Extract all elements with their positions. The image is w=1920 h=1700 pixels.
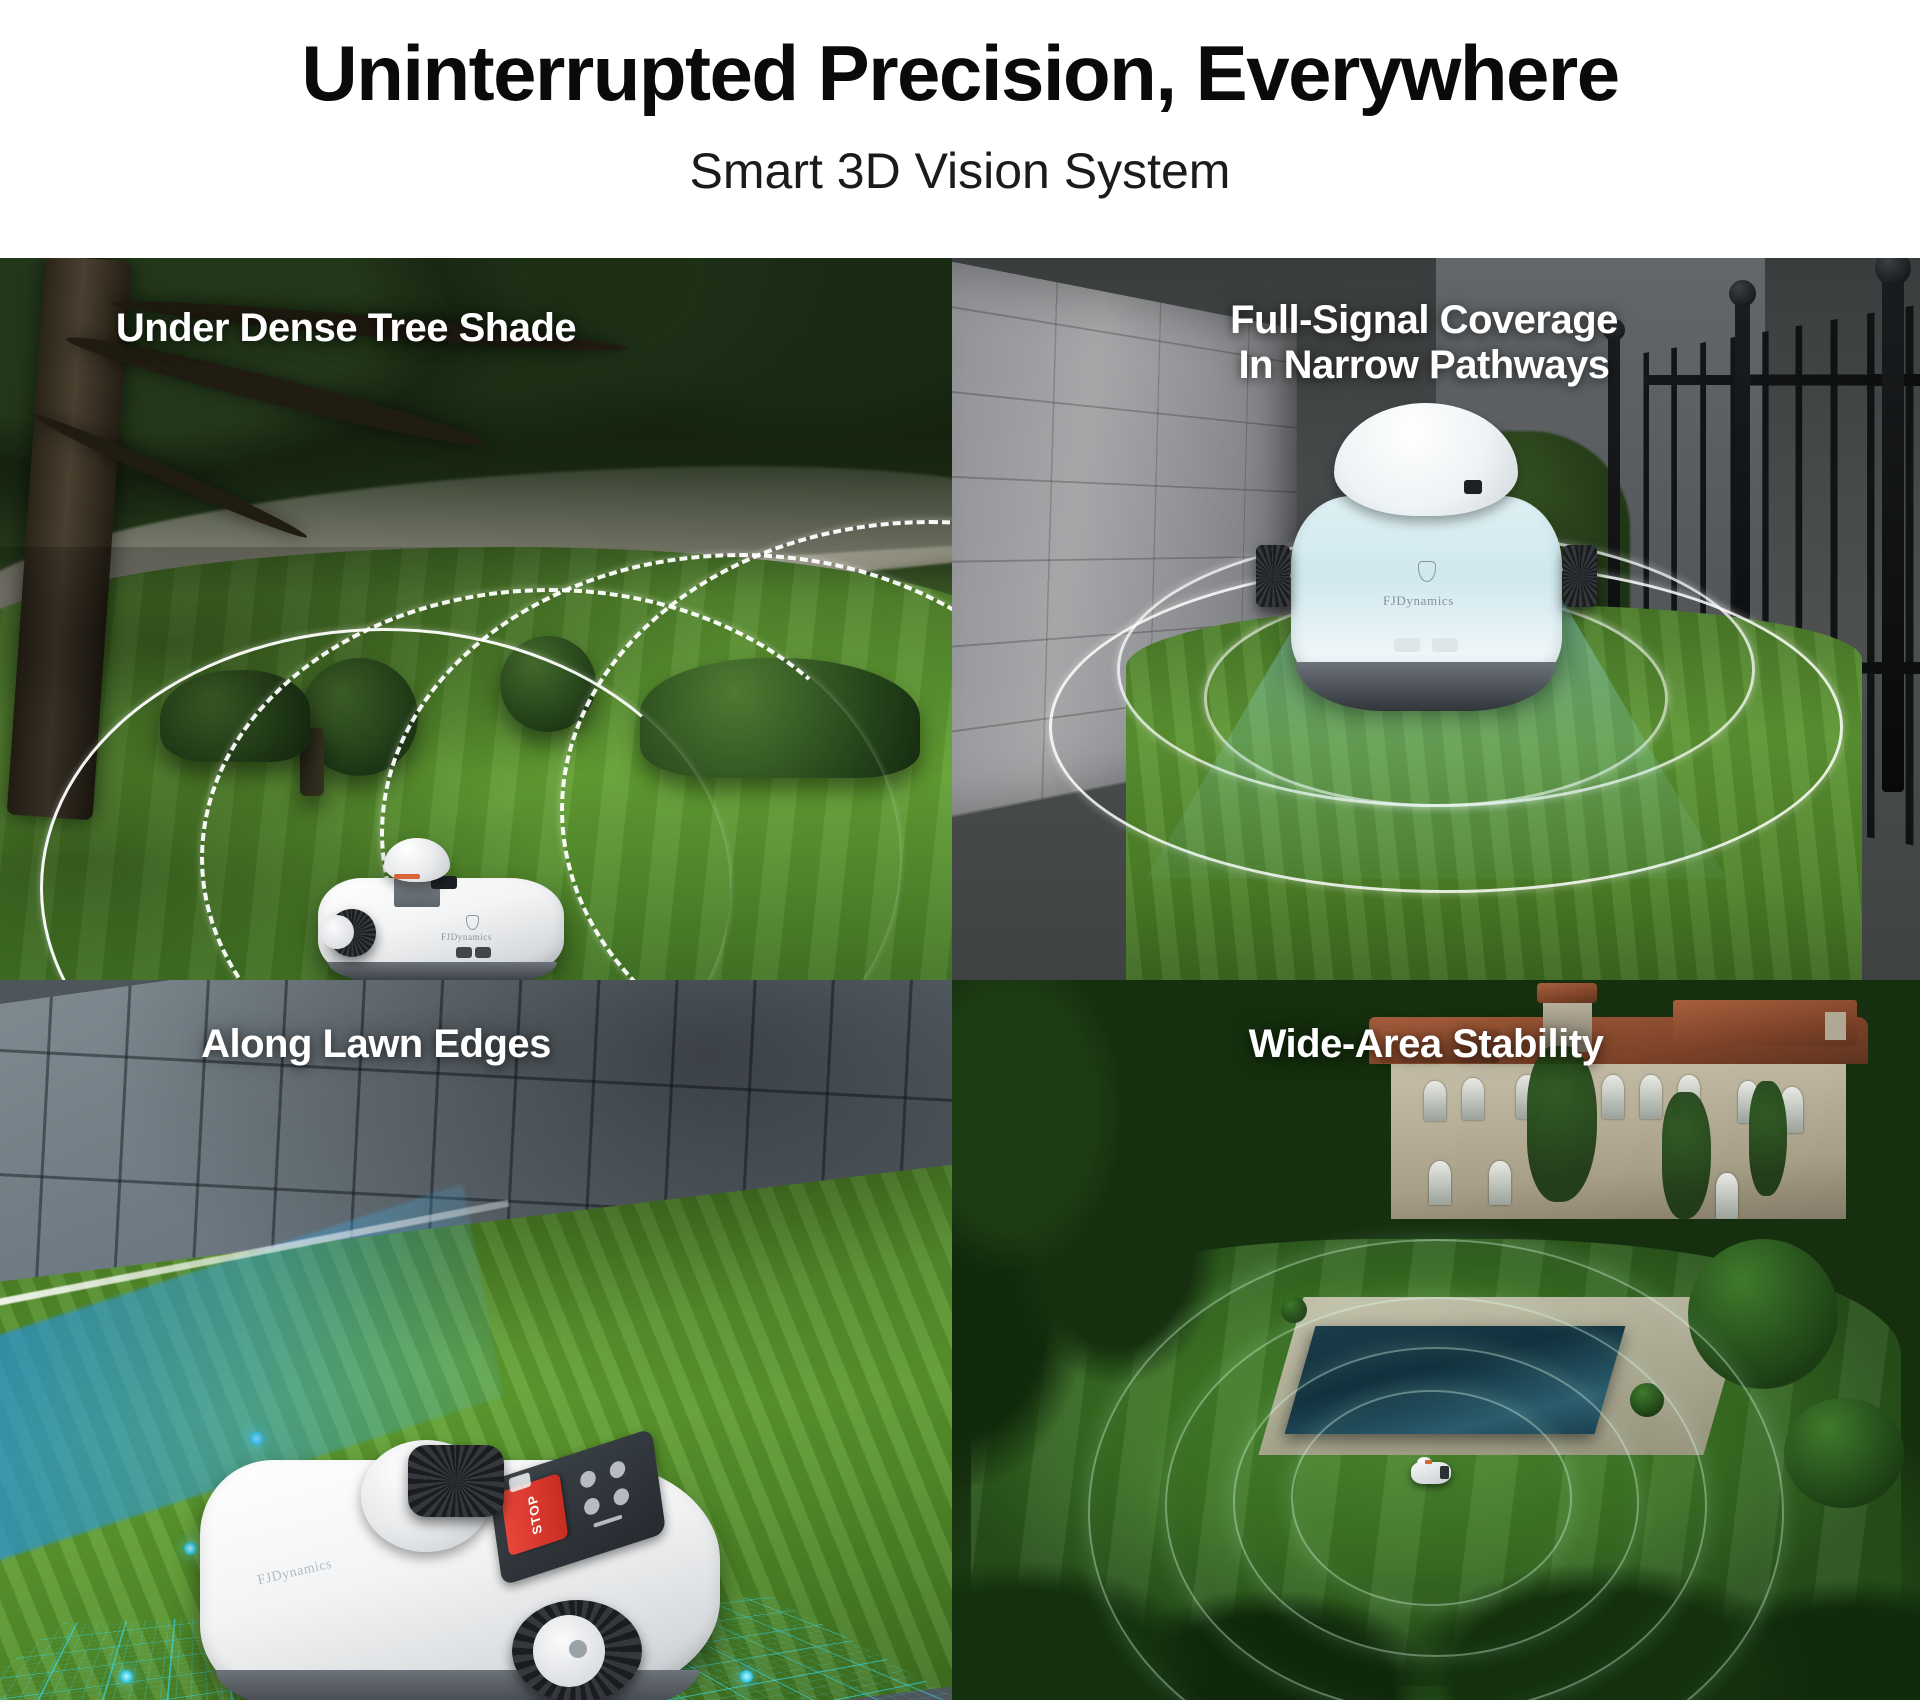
mower-vent — [456, 947, 472, 958]
feature-panel-grid: FJDynamics Under Dense Tree Shade — [0, 258, 1920, 1700]
robot-mower — [1411, 1462, 1451, 1484]
grid-node — [120, 1670, 133, 1683]
ivy — [1527, 1046, 1597, 1202]
mower-vent — [1432, 638, 1458, 652]
mansion-window — [1424, 1081, 1446, 1121]
grid-node — [740, 1670, 753, 1683]
mower-wheel — [1563, 545, 1597, 607]
page-subtitle: Smart 3D Vision System — [0, 112, 1920, 196]
coverage-ring — [1291, 1390, 1572, 1606]
panel-label-under-dense-tree-shade: Under Dense Tree Shade — [0, 306, 952, 351]
panel-wide-area-stability: Wide-Area Stability — [952, 980, 1920, 1700]
tree — [1784, 1398, 1904, 1508]
mansion-window — [1640, 1075, 1662, 1119]
robot-mower: FJDynamics — [1291, 496, 1562, 698]
robot-mower: FJDynamics — [318, 878, 564, 980]
panel-full-signal-coverage: FJDynamics Full-Signal Coverage In Narro… — [952, 258, 1920, 980]
product-feature-image: Uninterrupted Precision, Everywhere Smar… — [0, 0, 1920, 1700]
ivy — [1749, 1081, 1787, 1196]
panel-along-lawn-edges: STOP FJDynamics Along Lawn Edges — [0, 980, 952, 1700]
panel-label-wide-area-stability: Wide-Area Stability — [952, 1022, 1920, 1067]
mansion-window — [1429, 1161, 1451, 1205]
status-stripe — [1425, 1460, 1432, 1464]
keypad-button[interactable] — [579, 1469, 596, 1490]
header: Uninterrupted Precision, Everywhere Smar… — [0, 0, 1920, 258]
panel-label-full-signal-coverage: Full-Signal Coverage In Narrow Pathways — [952, 298, 1920, 388]
mower-vent — [475, 947, 491, 958]
panel-under-dense-tree-shade: FJDynamics Under Dense Tree Shade — [0, 258, 952, 980]
mansion-window — [1602, 1075, 1624, 1119]
mansion-window — [1489, 1161, 1511, 1205]
grid-node — [184, 1542, 197, 1555]
mansion-window — [1462, 1078, 1484, 1120]
ivy — [1662, 1092, 1711, 1219]
keypad-indicator — [593, 1514, 622, 1527]
mansion-window — [1716, 1173, 1738, 1219]
mower-wheel — [1440, 1466, 1449, 1479]
robot-mower: STOP FJDynamics — [200, 1460, 720, 1700]
mower-vent — [1394, 638, 1420, 652]
mower-wheel — [408, 1445, 504, 1517]
brand-logo-text: FJDynamics — [441, 932, 492, 942]
tower-roof — [1537, 983, 1597, 1003]
mower-wheel — [1256, 545, 1290, 607]
status-stripe — [394, 874, 420, 879]
keypad-button[interactable] — [613, 1486, 630, 1507]
mower-skirt — [328, 962, 557, 980]
panel-label-along-lawn-edges: Along Lawn Edges — [0, 1022, 952, 1067]
page-title: Uninterrupted Precision, Everywhere — [0, 0, 1920, 112]
keypad-button[interactable] — [583, 1496, 600, 1517]
keypad-button[interactable] — [609, 1459, 626, 1480]
camera-icon — [1464, 480, 1482, 494]
brand-logo-text: FJDynamics — [1383, 593, 1454, 609]
